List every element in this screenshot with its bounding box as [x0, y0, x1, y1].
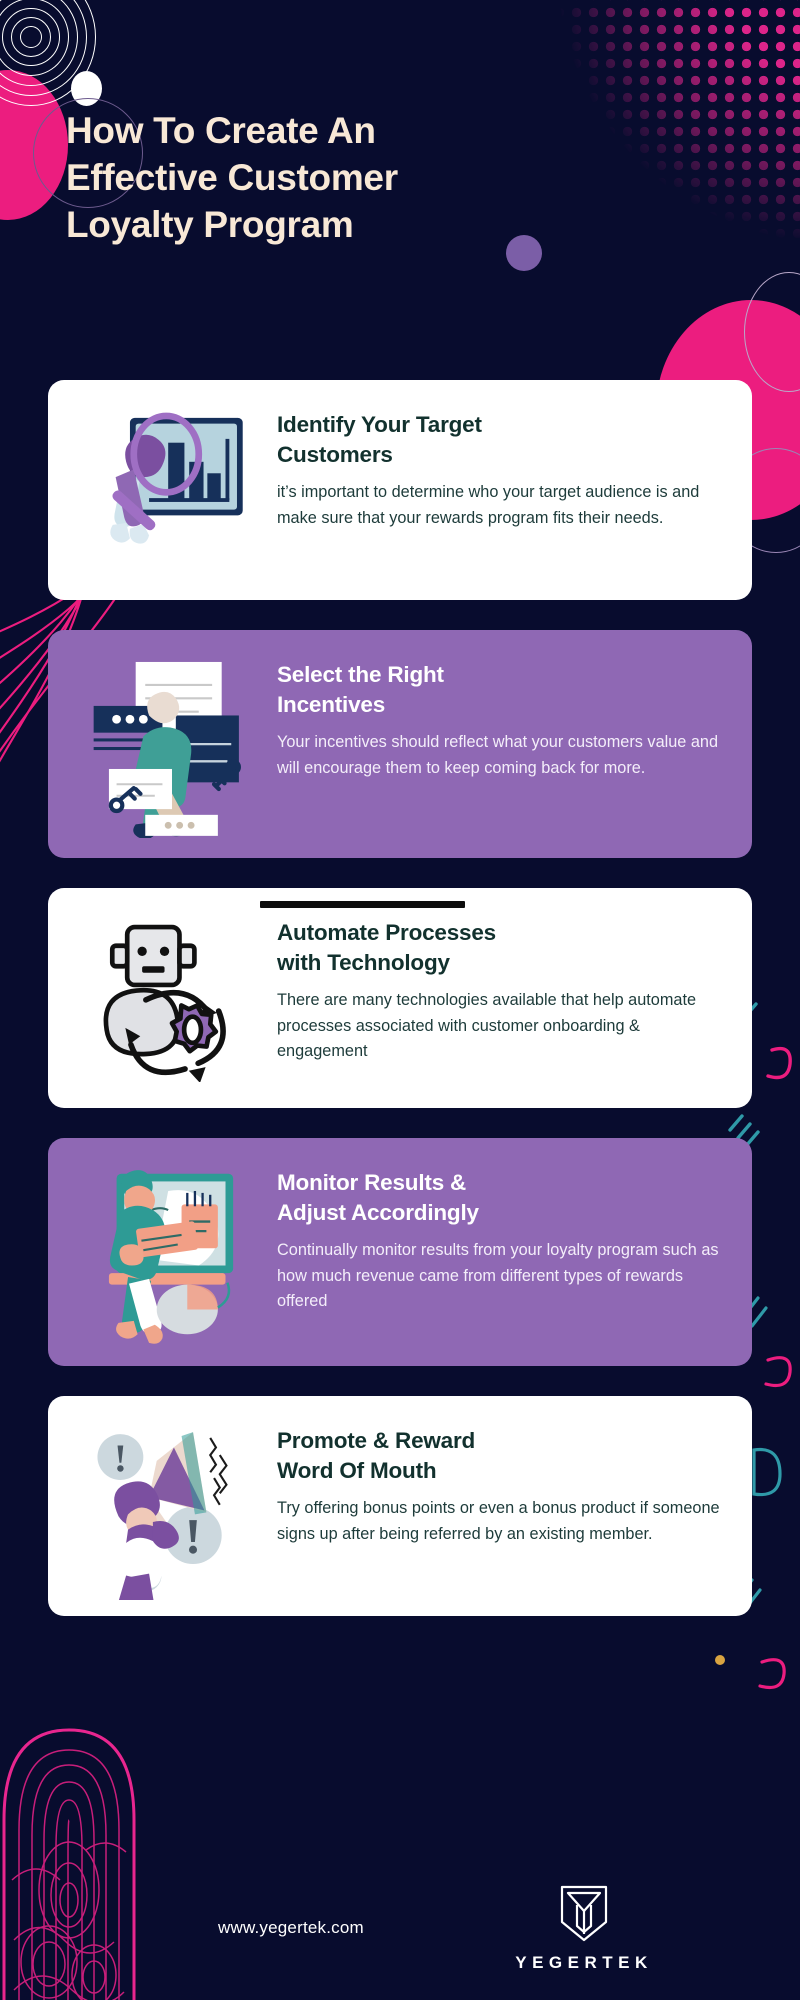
person-with-magnifier-bar-chart-illustration	[86, 406, 258, 574]
page-header: How To Create An Effective Customer Loya…	[66, 108, 536, 249]
card-automate-processes-with-technology[interactable]: Automate Processes with Technology There…	[48, 888, 752, 1108]
card-content: Promote & Reward Word Of Mouth Try offer…	[269, 1422, 722, 1547]
yegertek-shield-y-logo-icon	[557, 1882, 611, 1944]
halftone-dots-icon	[500, 0, 800, 300]
card-title-line-2: Incentives	[277, 692, 385, 717]
card-monitor-results-adjust-accordingly[interactable]: Monitor Results & Adjust Accordingly Con…	[48, 1138, 752, 1366]
card-title-line-1: Promote & Reward	[277, 1428, 475, 1453]
card-top-rule	[260, 901, 465, 908]
card-illustration	[74, 406, 269, 574]
card-title: Select the Right Incentives	[277, 660, 722, 720]
card-title: Monitor Results & Adjust Accordingly	[277, 1168, 722, 1228]
brand-logo: YEGERTEK	[494, 1882, 674, 1973]
card-identify-target-customers[interactable]: Identify Your Target Customers it’s impo…	[48, 380, 752, 600]
card-title-line-2: Word Of Mouth	[277, 1458, 436, 1483]
card-content: Identify Your Target Customers it’s impo…	[269, 406, 722, 531]
card-illustration	[74, 656, 269, 838]
card-title: Automate Processes with Technology	[277, 918, 722, 978]
brand-name: YEGERTEK	[494, 1953, 674, 1973]
card-illustration	[74, 1164, 269, 1346]
page-footer: www.yegertek.com YEGERTEK	[0, 1860, 800, 2000]
card-title-line-1: Monitor Results &	[277, 1170, 466, 1195]
person-at-monitor-with-mouse-illustration	[86, 1164, 258, 1346]
card-description: Try offering bonus points or even a bonu…	[277, 1496, 722, 1547]
card-title-line-2: with Technology	[277, 950, 450, 975]
card-description: Your incentives should reflect what your…	[277, 730, 722, 781]
card-title-line-1: Select the Right	[277, 662, 444, 687]
page-title-line-2: Effective Customer	[66, 155, 536, 202]
page-title-line-1: How To Create An	[66, 108, 536, 155]
person-with-megaphone-illustration	[86, 1422, 258, 1600]
card-title-line-2: Customers	[277, 442, 393, 467]
card-title-line-2: Adjust Accordingly	[277, 1200, 479, 1225]
card-description: There are many technologies available th…	[277, 988, 722, 1065]
card-title-line-1: Automate Processes	[277, 920, 496, 945]
card-content: Select the Right Incentives Your incenti…	[269, 656, 722, 781]
card-description: Continually monitor results from your lo…	[277, 1238, 722, 1315]
card-title: Promote & Reward Word Of Mouth	[277, 1426, 722, 1486]
card-select-the-right-incentives[interactable]: Select the Right Incentives Your incenti…	[48, 630, 752, 858]
card-promote-reward-word-of-mouth[interactable]: Promote & Reward Word Of Mouth Try offer…	[48, 1396, 752, 1616]
card-illustration	[74, 914, 269, 1082]
card-title: Identify Your Target Customers	[277, 410, 722, 470]
card-description: it’s important to determine who your tar…	[277, 480, 722, 531]
person-with-documents-and-keys-illustration	[86, 656, 258, 838]
website-url[interactable]: www.yegertek.com	[218, 1918, 364, 1938]
card-content: Monitor Results & Adjust Accordingly Con…	[269, 1164, 722, 1315]
page-title-line-3: Loyalty Program	[66, 202, 536, 249]
card-title-line-1: Identify Your Target	[277, 412, 482, 437]
card-content: Automate Processes with Technology There…	[269, 914, 722, 1065]
robot-head-gear-cycle-icon	[88, 914, 256, 1082]
page-title: How To Create An Effective Customer Loya…	[66, 108, 536, 249]
card-illustration	[74, 1422, 269, 1600]
spiral-rings-icon	[0, 0, 106, 112]
